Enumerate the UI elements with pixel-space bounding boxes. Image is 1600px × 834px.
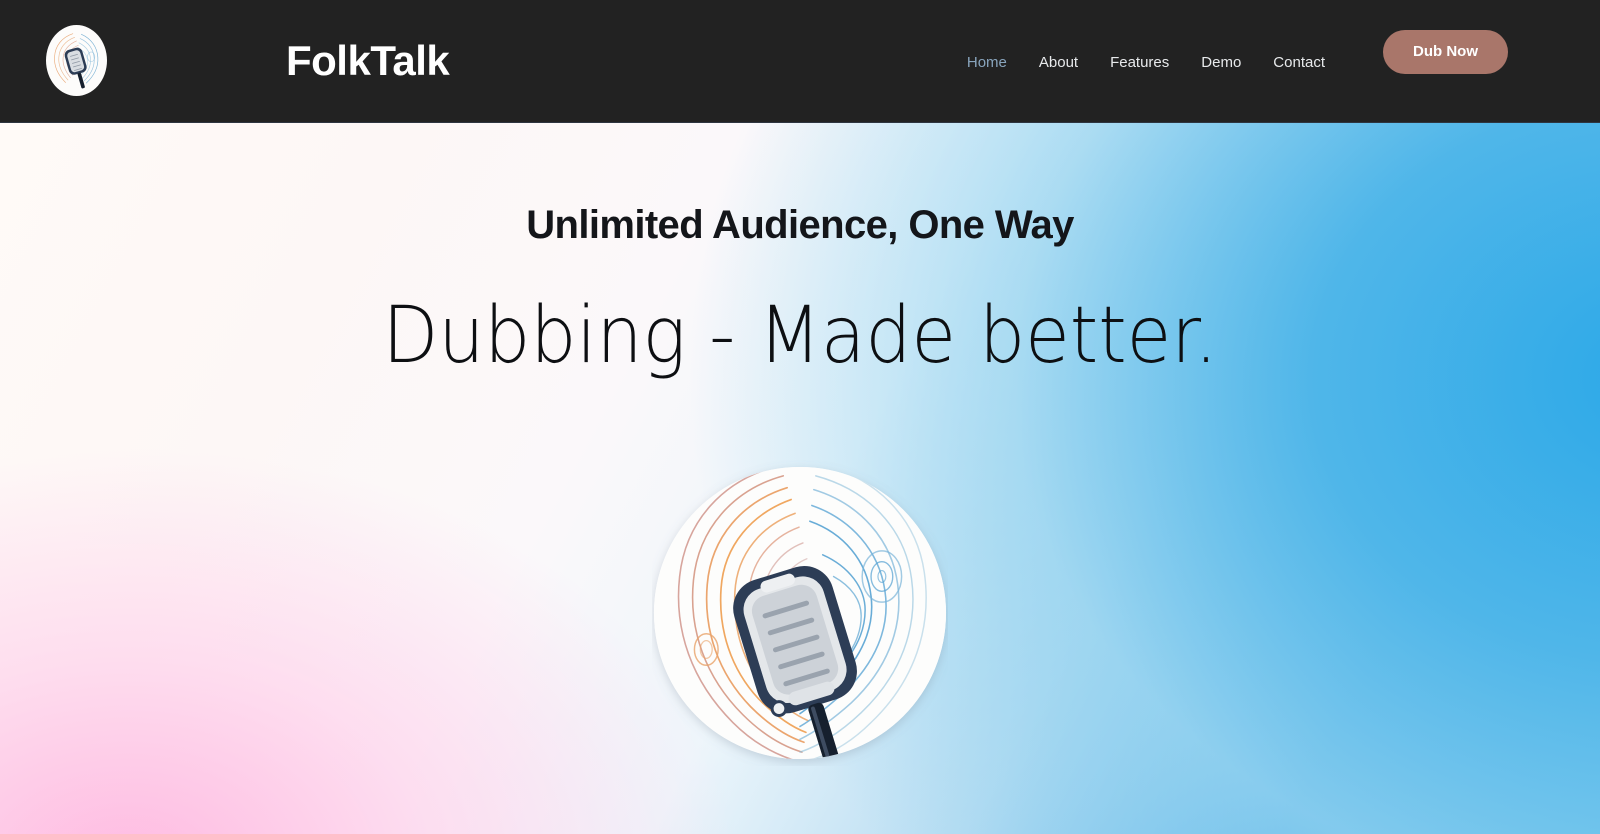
brand-name[interactable]: FolkTalk [286, 37, 449, 85]
folktalk-microphone-circle-logo-icon[interactable] [46, 25, 107, 96]
site-header: FolkTalk Home About Features Demo Contac… [0, 0, 1600, 123]
main-nav: Home About Features Demo Contact Dub Now [951, 41, 1508, 85]
nav-link-features[interactable]: Features [1094, 52, 1185, 74]
nav-link-about[interactable]: About [1023, 52, 1094, 74]
dub-now-button[interactable]: Dub Now [1383, 30, 1508, 74]
hero-section: Unlimited Audience, One Way Dubbing - Ma… [0, 123, 1600, 834]
nav-link-demo[interactable]: Demo [1185, 52, 1257, 74]
nav-link-home[interactable]: Home [951, 52, 1023, 74]
hero-eyebrow-heading: Unlimited Audience, One Way [0, 199, 1600, 251]
microphone-contour-circle-illustration-icon [652, 460, 948, 766]
landing-page: FolkTalk Home About Features Demo Contac… [0, 0, 1600, 834]
hero-title: Dubbing - Made better. [56, 288, 1544, 384]
nav-link-contact[interactable]: Contact [1257, 52, 1341, 74]
hero-content: Unlimited Audience, One Way Dubbing - Ma… [0, 123, 1600, 834]
